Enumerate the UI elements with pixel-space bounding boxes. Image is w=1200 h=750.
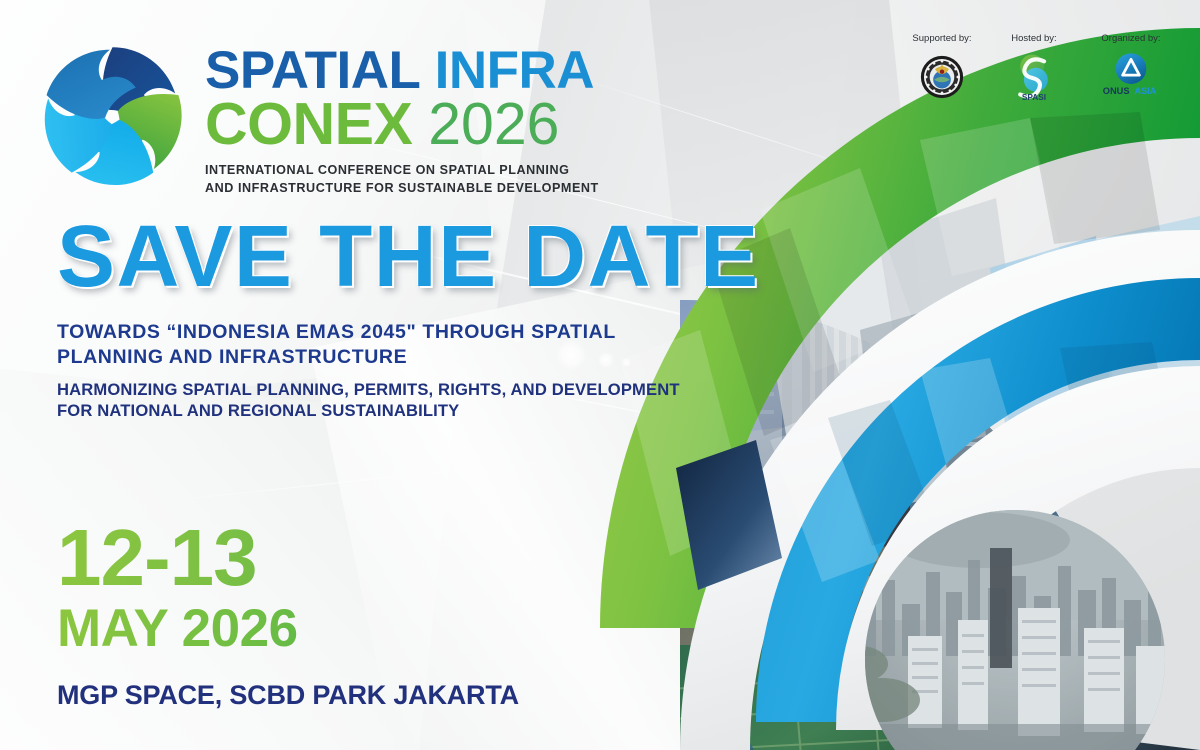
theme-sub: HARMONIZING SPATIAL PLANNING, PERMITS, R…	[57, 379, 717, 423]
event-month-year: MAY 2026	[57, 601, 519, 656]
spiral-pinwheel-icon	[30, 34, 195, 199]
logo-title-line-2: CONEX 2026	[205, 95, 599, 154]
theme-sub-line-1: HARMONIZING SPATIAL PLANNING, PERMITS, R…	[57, 379, 717, 401]
logo-tagline-line-2: AND INFRASTRUCTURE FOR SUSTAINABLE DEVEL…	[205, 180, 599, 198]
logo-year: 2026	[428, 91, 559, 157]
sponsor-organized-by: Organized by: ONUS ASIA	[1090, 33, 1172, 101]
sponsor-label: Supported by:	[912, 33, 971, 44]
logo-title-line-1: SPATIAL INFRA	[205, 46, 599, 97]
event-days: 12-13	[57, 521, 519, 595]
event-details: 12-13 MAY 2026 MGP SPACE, SCBD PARK JAKA…	[57, 521, 519, 711]
spasi-wordmark: SPASI	[1022, 93, 1046, 102]
sponsor-supported-by: Supported by:	[906, 33, 978, 101]
indonesia-government-emblem-icon	[920, 53, 964, 101]
theme-sub-line-2: FOR NATIONAL AND REGIONAL SUSTAINABILITY	[57, 400, 717, 422]
logo-tagline: INTERNATIONAL CONFERENCE ON SPATIAL PLAN…	[205, 162, 599, 198]
onus-asia-logo-icon: ONUS ASIA	[1096, 53, 1166, 101]
theme-main: TOWARDS “INDONESIA EMAS 2045" THROUGH SP…	[57, 320, 717, 370]
save-the-date-poster: SPATIAL INFRA CONEX 2026 INTERNATIONAL C…	[0, 0, 1200, 750]
event-venue: MGP SPACE, SCBD PARK JAKARTA	[57, 680, 519, 711]
sponsor-hosted-by: Hosted by: SPASI	[998, 33, 1070, 101]
sponsor-strip: Supported by:	[906, 33, 1172, 101]
sponsor-label: Hosted by:	[1011, 33, 1056, 44]
logo-tagline-line-1: INTERNATIONAL CONFERENCE ON SPATIAL PLAN…	[205, 162, 599, 180]
logo-word-conex: CONEX	[205, 91, 412, 157]
theme-main-line-1: TOWARDS “INDONESIA EMAS 2045" THROUGH SP…	[57, 320, 717, 345]
theme-main-line-2: PLANNING AND INFRASTRUCTURE	[57, 345, 717, 370]
page-title: SAVE THE DATE	[57, 213, 760, 300]
conference-theme: TOWARDS “INDONESIA EMAS 2045" THROUGH SP…	[57, 320, 717, 422]
spasi-logo-icon: SPASI	[1011, 53, 1057, 101]
event-logo: SPATIAL INFRA CONEX 2026 INTERNATIONAL C…	[30, 32, 599, 199]
sponsor-label: Organized by:	[1101, 33, 1160, 44]
asia-wordmark: ASIA	[1134, 86, 1156, 96]
onus-wordmark: ONUS	[1103, 86, 1130, 96]
